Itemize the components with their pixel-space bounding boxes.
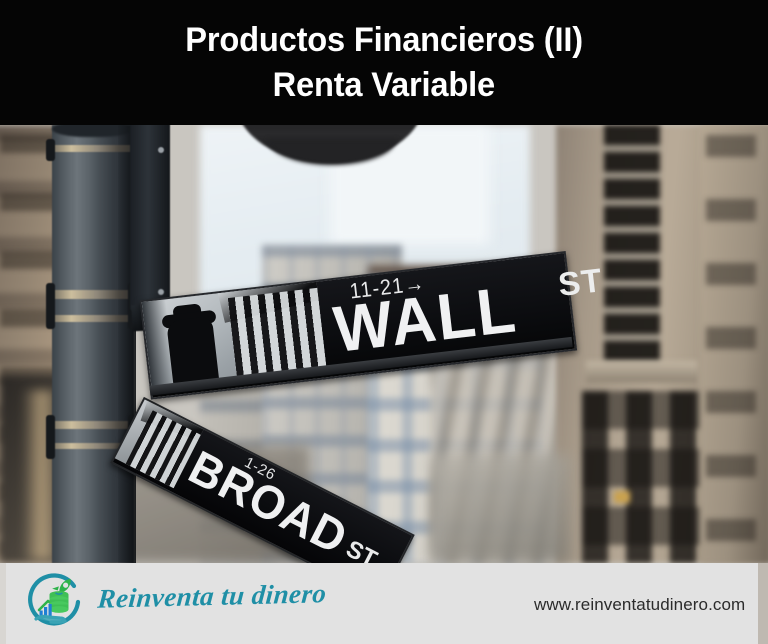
brand-logo[interactable] xyxy=(24,569,86,631)
footer-right-edge xyxy=(758,563,768,644)
background-building-right-cornice xyxy=(586,361,698,383)
background-building-right-window-column xyxy=(604,125,660,375)
lamppost-band xyxy=(50,315,136,322)
lamppost-strap xyxy=(46,283,55,329)
brand-logo-icon xyxy=(24,569,86,631)
sign-mounting-bracket xyxy=(130,125,170,311)
footer-bar: Reinventa tu dinero www.reinventatudiner… xyxy=(6,563,758,638)
lamppost-strap xyxy=(46,415,55,459)
brand-name: Reinventa tu dinero xyxy=(96,578,327,615)
lamppost-band xyxy=(50,145,136,152)
background-blur-lower-right xyxy=(430,455,570,563)
lamppost-band xyxy=(50,290,136,299)
slide-root: Productos Financieros (II) Renta Variabl… xyxy=(0,0,768,644)
wall-sign-street-suffix: ST xyxy=(556,261,604,304)
hero-photo: 1-26 BROAD ST 11-21→ WALL ST xyxy=(0,125,768,563)
background-building-right-windows xyxy=(582,391,704,563)
page-title-line-2: Renta Variable xyxy=(273,63,495,107)
bracket-bolt xyxy=(158,289,164,295)
bracket-bolt xyxy=(158,147,164,153)
footer-bottom-padding xyxy=(6,638,758,644)
background-window-lamp-glow xyxy=(614,491,630,503)
title-bar: Productos Financieros (II) Renta Variabl… xyxy=(0,0,768,125)
website-url[interactable]: www.reinventatudinero.com xyxy=(534,595,745,615)
page-title-line-1: Productos Financieros (II) xyxy=(185,18,583,62)
lamppost-band xyxy=(50,421,136,429)
background-building-far-right-windows xyxy=(706,135,756,555)
lamppost-strap xyxy=(46,139,55,161)
